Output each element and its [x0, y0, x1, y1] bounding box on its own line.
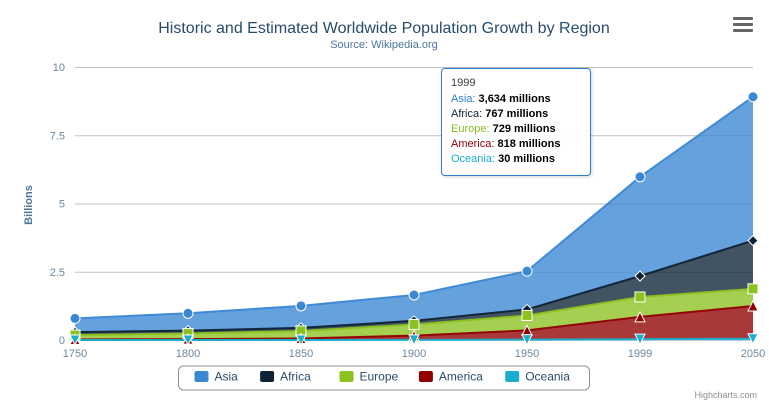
tooltip-row: America: 818 millions — [451, 137, 581, 152]
x-axis-tick-label: 1999 — [628, 348, 652, 360]
series-point-marker[interactable] — [748, 92, 758, 102]
y-axis-tick-label: 5 — [59, 199, 65, 211]
x-axis-tick-label: 1950 — [515, 348, 539, 360]
y-axis-tick-label: 2.5 — [50, 267, 65, 279]
tooltip-series-name: Oceania: — [451, 153, 498, 165]
x-axis-tick-label: 1800 — [176, 348, 200, 360]
legend-hit-africa[interactable] — [257, 367, 324, 387]
tooltip-series-name: America: — [451, 138, 497, 150]
tooltip-series-value: 767 millions — [485, 108, 548, 120]
chart-subtitle: Source: Wikipedia.org — [330, 39, 438, 51]
hamburger-menu-icon[interactable] — [731, 14, 755, 36]
legend-hit-europe[interactable] — [337, 367, 404, 387]
series-point-marker[interactable] — [748, 284, 758, 294]
tooltip-row: Europe: 729 millions — [451, 122, 581, 137]
credits-label[interactable]: Highcharts.com — [694, 390, 757, 400]
y-axis-tick-label: 0 — [59, 335, 65, 347]
tooltip-rows: Asia: 3,634 millionsAfrica: 767 millions… — [451, 92, 581, 167]
legend-item-oceania[interactable]: Oceania — [502, 367, 576, 387]
legend-item-asia[interactable]: Asia — [192, 367, 246, 387]
tooltip-series-name: Africa: — [451, 108, 485, 120]
series-point-marker[interactable] — [296, 301, 306, 311]
x-axis-tick-label: 1900 — [402, 348, 426, 360]
series-point-marker[interactable] — [522, 310, 532, 320]
menu-bar-bottom — [733, 29, 753, 32]
series-point-marker[interactable] — [522, 266, 532, 276]
series-point-marker[interactable] — [70, 313, 80, 323]
legend-hit-asia[interactable] — [192, 367, 246, 387]
series-point-marker[interactable] — [409, 319, 419, 329]
tooltip-series-value: 729 millions — [493, 123, 556, 135]
legend-item-europe[interactable]: Europe — [337, 367, 404, 387]
legend-hit-america[interactable] — [416, 367, 490, 387]
series-point-marker[interactable] — [635, 172, 645, 182]
tooltip-row: Oceania: 30 millions — [451, 152, 581, 167]
y-axis-tick-label: 7.5 — [50, 130, 65, 142]
tooltip-series-name: Europe: — [451, 123, 493, 135]
tooltip-series-value: 818 millions — [497, 138, 560, 150]
tooltip-series-value: 30 millions — [498, 153, 555, 165]
y-axis-tick-label: 10 — [53, 62, 65, 74]
chart-canvas: Historic and Estimated Worldwide Populat… — [0, 0, 769, 416]
series-point-marker[interactable] — [183, 308, 193, 318]
highcharts-container: Historic and Estimated Worldwide Populat… — [0, 0, 769, 416]
series-tooltip: 1999 Asia: 3,634 millionsAfrica: 767 mil… — [441, 68, 591, 176]
menu-bar-top — [733, 17, 753, 20]
tooltip-header: 1999 — [451, 76, 581, 92]
tooltip-row: Africa: 767 millions — [451, 107, 581, 122]
series-point-marker[interactable] — [409, 290, 419, 300]
legend-hit-oceania[interactable] — [502, 367, 576, 387]
chart-title: Historic and Estimated Worldwide Populat… — [158, 20, 609, 37]
tooltip-series-name: Asia: — [451, 93, 479, 105]
tooltip-series-value: 3,634 millions — [479, 93, 551, 105]
x-axis-tick-label: 1850 — [289, 348, 313, 360]
series-point-marker[interactable] — [635, 292, 645, 302]
legend-item-america[interactable]: America — [416, 367, 490, 387]
chart-legend: AsiaAfricaEuropeAmericaOceania — [179, 366, 590, 390]
x-axis-tick-label: 2050 — [741, 348, 765, 360]
y-axis-title: Billions — [23, 185, 35, 225]
tooltip-row: Asia: 3,634 millions — [451, 92, 581, 107]
legend-item-africa[interactable]: Africa — [257, 367, 324, 387]
menu-bar-middle — [733, 23, 753, 26]
x-axis-tick-label: 1750 — [63, 348, 87, 360]
